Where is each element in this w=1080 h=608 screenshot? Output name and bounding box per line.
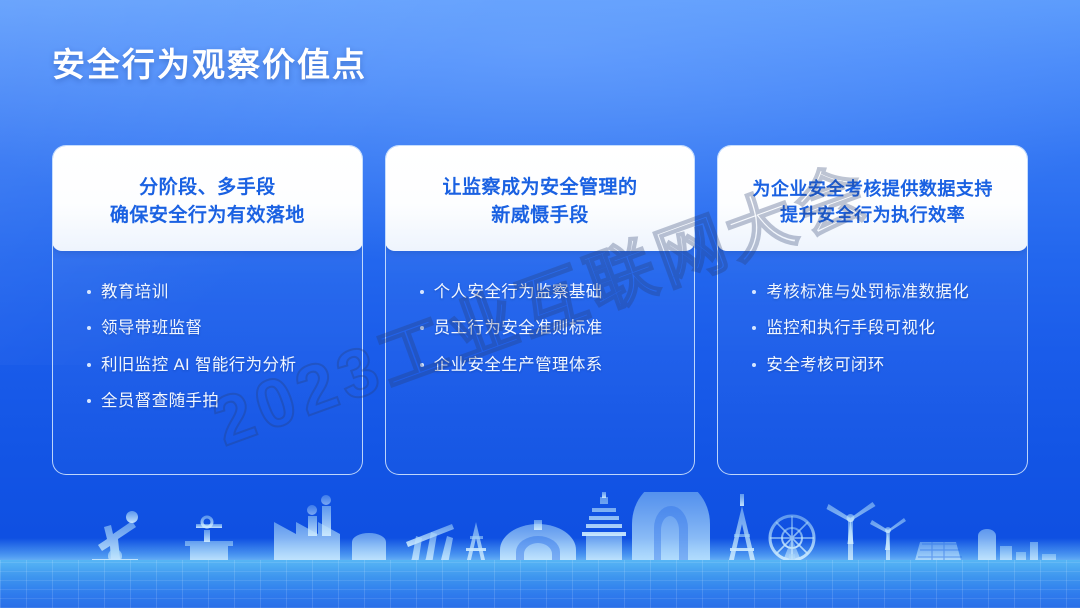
bottom-scene: [0, 498, 1080, 608]
list-item-label: 考核标准与处罚标准数据化: [766, 281, 969, 303]
list-item: 员工行为安全准则标准: [420, 317, 695, 339]
bullet-dot-icon: [752, 290, 756, 294]
bullet-dot-icon: [420, 363, 424, 367]
list-item-label: 企业安全生产管理体系: [434, 354, 603, 376]
value-point-card-list: 分阶段、多手段 确保安全行为有效落地 教育培训 领导带班监督 利旧监控 AI 智…: [52, 145, 1028, 475]
list-item-label: 员工行为安全准则标准: [434, 317, 603, 339]
bullet-dot-icon: [420, 290, 424, 294]
bullet-dot-icon: [87, 326, 91, 330]
list-item-label: 全员督查随手拍: [101, 390, 219, 412]
bullet-dot-icon: [87, 363, 91, 367]
value-point-card[interactable]: 为企业安全考核提供数据支持 提升安全行为执行效率 考核标准与处罚标准数据化 监控…: [717, 145, 1028, 475]
list-item-label: 安全考核可闭环: [766, 354, 884, 376]
card-body: 教育培训 领导带班监督 利旧监控 AI 智能行为分析 全员督查随手拍: [53, 251, 362, 474]
bullet-dot-icon: [752, 363, 756, 367]
card-header: 分阶段、多手段 确保安全行为有效落地: [52, 145, 363, 251]
card-heading-line-2: 新威慑手段: [491, 202, 589, 230]
list-item: 教育培训: [87, 281, 362, 303]
list-item: 企业安全生产管理体系: [420, 354, 695, 376]
card-header: 为企业安全考核提供数据支持 提升安全行为执行效率: [717, 145, 1028, 251]
bullet-dot-icon: [87, 290, 91, 294]
city-skyline-icon: [0, 492, 1080, 566]
value-point-card[interactable]: 让监察成为安全管理的 新威慑手段 个人安全行为监察基础 员工行为安全准则标准 企…: [385, 145, 696, 475]
ground-grid: [0, 560, 1080, 608]
list-item-label: 个人安全行为监察基础: [434, 281, 603, 303]
bullet-dot-icon: [420, 326, 424, 330]
list-item: 全员督查随手拍: [87, 390, 362, 412]
horizon-glow: [0, 538, 1080, 564]
value-point-card[interactable]: 分阶段、多手段 确保安全行为有效落地 教育培训 领导带班监督 利旧监控 AI 智…: [52, 145, 363, 475]
list-item: 安全考核可闭环: [752, 354, 1027, 376]
list-item: 个人安全行为监察基础: [420, 281, 695, 303]
list-item-label: 利旧监控 AI 智能行为分析: [101, 354, 296, 376]
list-item: 监控和执行手段可视化: [752, 317, 1027, 339]
list-item-label: 监控和执行手段可视化: [766, 317, 935, 339]
card-heading-line-1: 分阶段、多手段: [139, 174, 276, 202]
bullet-dot-icon: [752, 326, 756, 330]
list-item: 领导带班监督: [87, 317, 362, 339]
card-heading-line-1: 让监察成为安全管理的: [443, 174, 638, 202]
card-header: 让监察成为安全管理的 新威慑手段: [385, 145, 696, 251]
card-body: 个人安全行为监察基础 员工行为安全准则标准 企业安全生产管理体系: [386, 251, 695, 474]
list-item: 利旧监控 AI 智能行为分析: [87, 354, 362, 376]
perspective-ground: [0, 560, 1080, 608]
bullet-dot-icon: [87, 399, 91, 403]
card-body: 考核标准与处罚标准数据化 监控和执行手段可视化 安全考核可闭环: [718, 251, 1027, 474]
card-heading-line-2: 确保安全行为有效落地: [110, 202, 305, 230]
card-heading-line-1: 为企业安全考核提供数据支持: [752, 176, 993, 202]
slide-root: 安全行为观察价值点 分阶段、多手段 确保安全行为有效落地 教育培训 领导带班监督: [0, 0, 1080, 608]
list-item-label: 领导带班监督: [101, 317, 202, 339]
list-item: 考核标准与处罚标准数据化: [752, 281, 1027, 303]
card-heading-line-2: 提升安全行为执行效率: [780, 202, 965, 228]
list-item-label: 教育培训: [101, 281, 169, 303]
page-title: 安全行为观察价值点: [52, 38, 367, 86]
